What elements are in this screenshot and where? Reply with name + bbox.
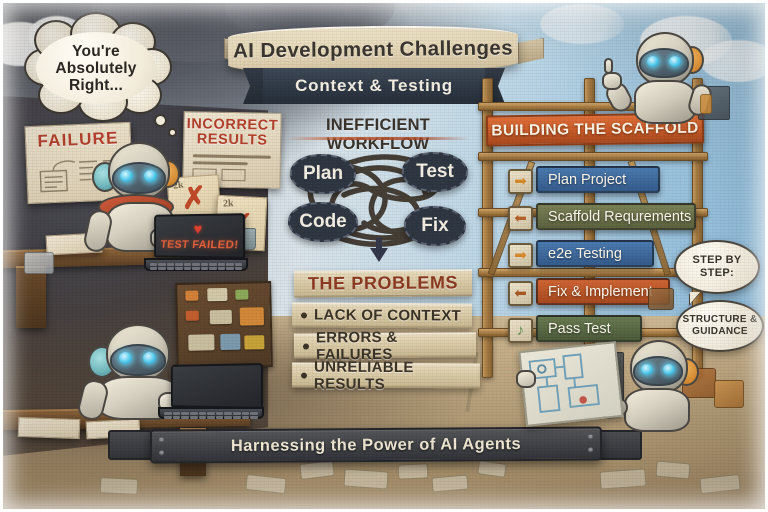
board-note [240,307,264,325]
sub-banner: Context & Testing [263,68,485,104]
workflow-node-label: Fix [421,215,448,237]
rubble-chunk [343,468,388,489]
robot-eye-icon [647,56,659,67]
scaffold-step-label: Pass Test [538,321,611,337]
arrow-right-icon: ➡ [508,243,533,268]
arrow-right-icon: ➡ [508,169,533,194]
board-note [207,288,227,301]
flow-arrow-icon [370,248,388,262]
robot-eye-icon [663,364,675,375]
scaffold-beam [478,152,708,161]
step-icon-glyph: ⬅ [514,211,527,226]
robot-eye-icon [119,352,132,364]
step-icon-glyph: ⬅ [514,286,527,301]
robot-eye-icon [120,170,133,182]
problem-item-label: UNRELIABLE RESULTS [292,358,480,393]
board-note [235,289,248,299]
robot-thumbs-up [628,26,738,124]
scaffold-step-label: Fix & Implement [538,284,653,300]
scaffold-step-2[interactable]: ⬅ Scaffold Requrements [536,203,696,230]
bullet-icon [301,312,307,318]
test-failed-text: TEST FAILED! [160,238,239,251]
robot-eye-icon [144,170,157,182]
workflow-node-code: Code [288,202,358,242]
robot-torso [634,80,696,124]
workflow-node-label: Test [416,161,454,183]
robot-eye-icon [641,364,653,375]
thought-tail-dot [154,114,167,127]
robot-torso [624,388,690,432]
sub-banner-text: Context & Testing [295,76,453,96]
workflow-node-plan: Plan [290,154,356,194]
workflow-divider [286,137,470,140]
laptop-keyboard[interactable] [160,409,262,422]
crate [24,252,54,274]
problem-item-2: ERRORS & FAILURES [294,332,476,358]
board-note [220,334,240,350]
arrow-left-icon: ⬅ [508,281,533,306]
laptop-working[interactable] [158,364,264,420]
step-icon-glyph: ➡ [514,248,527,263]
sticky-note-label: 2k [223,198,234,209]
workflow-node-label: Code [299,211,347,233]
robot-eye-icon [669,56,681,67]
thumbs-up-icon [604,58,613,74]
scaffold-step-label: Plan Project [538,172,626,188]
step-by-step-text: STEP BY STEP: [676,254,758,280]
laptop-base [158,407,264,419]
board-note [210,310,232,324]
blueprint-diagram-icon [520,343,621,424]
rubble-chunk [599,468,646,489]
cloud [540,4,624,44]
plate-extension-left [108,430,152,460]
board-note [244,335,264,349]
step-icon-glyph: ♪ [517,323,525,338]
note-icon: ♪ [508,318,533,343]
workflow-node-test: Test [402,152,468,192]
bullet-icon [301,372,307,378]
toolbox-latch [700,94,712,114]
structure-guidance-text: STRUCTURE & GUIDANCE [678,314,762,338]
title-banner: AI Development Challenges [228,24,518,75]
robot-blueprint [620,336,724,432]
title-banner-text: AI Development Challenges [233,37,513,64]
brick-stack [648,288,674,310]
step-icon-glyph: ➡ [514,174,527,189]
thought-bubble: You're Absolutely Right... [22,18,170,118]
step-by-step-bubble: STEP BY STEP: [674,240,760,294]
rubble-chunk [398,463,429,480]
rubble-chunk [100,477,139,495]
workflow-node-label: Plan [303,163,343,185]
scaffold-step-3[interactable]: ➡ e2e Testing [536,240,654,267]
scaffold-step-label: e2e Testing [538,246,622,262]
robot-eye-icon [143,352,156,364]
robot-hand [602,72,622,90]
problems-title: THE PROBLEMS [308,272,458,294]
thought-bubble-text: You're Absolutely Right... [36,43,156,94]
scaffold-step-1[interactable]: ➡ Plan Project [536,166,660,193]
illustration-canvas: FAILURE INCORRECT RESULTS 2k ✗ 2k [0,0,768,512]
robot-hand [516,370,536,388]
arrow-left-icon: ⬅ [508,206,533,231]
rubble-chunk [655,461,690,480]
problems-title-plank: THE PROBLEMS [294,269,472,298]
plate-extension-right [598,430,642,460]
workflow-node-fix: Fix [404,206,466,246]
board-note [186,311,199,321]
bottom-banner: Harnessing the Power of AI Agents [150,426,602,463]
problem-item-1: LACK OF CONTEXT [292,302,472,328]
problem-item-3: UNRELIABLE RESULTS [292,363,480,389]
heart-icon: ♥ [194,221,203,236]
bullet-icon [303,343,309,349]
laptop-failing[interactable]: ♥ TEST FAILED! [144,214,248,272]
scaffold-step-label: Scaffold Requrements [538,209,691,225]
laptop-base [144,258,248,271]
desk-leg [16,266,46,328]
rubble-chunk [431,474,468,492]
desk-paper [18,417,81,439]
bottom-banner-text: Harnessing the Power of AI Agents [231,434,521,455]
thought-bubble-body: You're Absolutely Right... [36,32,156,104]
laptop-keyboard[interactable] [146,260,246,273]
problem-item-label: LACK OF CONTEXT [292,306,461,324]
laptop-screen [171,363,263,409]
board-note [185,291,198,301]
laptop-screen: ♥ TEST FAILED! [154,213,245,259]
